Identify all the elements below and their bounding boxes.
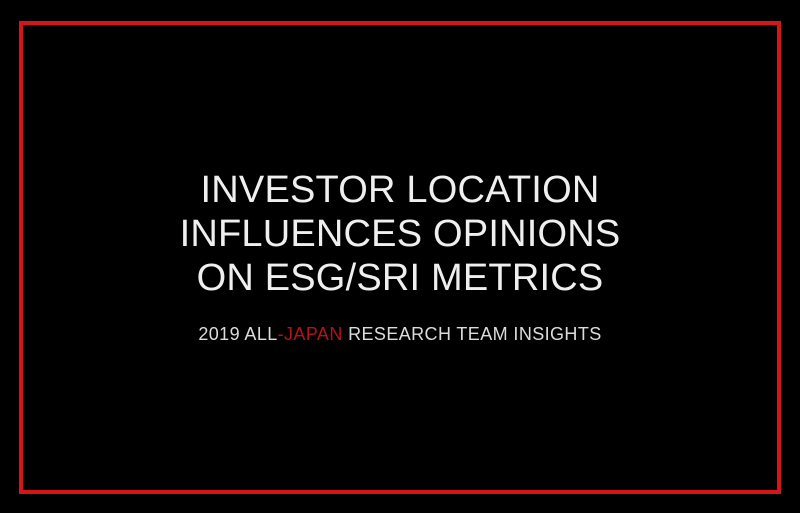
subtitle-highlight-japan: -JAPAN [278, 324, 343, 344]
slide-subtitle: 2019 ALL-JAPAN RESEARCH TEAM INSIGHTS [198, 323, 601, 345]
slide-title: INVESTOR LOCATION INFLUENCES OPINIONS ON… [180, 168, 621, 300]
title-line-2: INFLUENCES OPINIONS [180, 212, 621, 256]
subtitle-text-before: 2019 ALL [198, 324, 277, 344]
title-slide: INVESTOR LOCATION INFLUENCES OPINIONS ON… [0, 0, 800, 513]
title-line-3: ON ESG/SRI METRICS [180, 256, 621, 300]
subtitle-text-after: RESEARCH TEAM INSIGHTS [343, 324, 602, 344]
title-line-1: INVESTOR LOCATION [180, 168, 621, 212]
slide-content: INVESTOR LOCATION INFLUENCES OPINIONS ON… [0, 0, 800, 513]
